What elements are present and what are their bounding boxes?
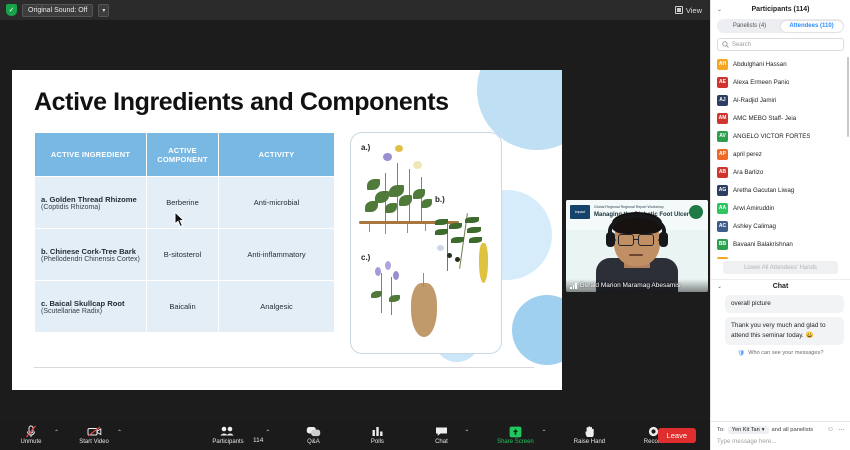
chevron-down-icon[interactable]: ⌄ (717, 283, 722, 290)
cell-ingredient: a. Golden Thread Rhizome (Coptidis Rhizo… (35, 177, 147, 229)
toolbar-button-share-screen[interactable]: Share Screen ⌃ (491, 425, 546, 445)
toolbar-button-qa[interactable]: Q&A (292, 425, 334, 445)
video-name-bar: Gerald Marion Maramag Abesamis (566, 279, 708, 292)
decorative-circle (512, 295, 562, 365)
cell-activity: Anti-inflammatory (219, 229, 335, 281)
chat-privacy-label: Who can see your messages? (748, 350, 823, 356)
participant-name: april perez (733, 151, 762, 158)
toolbar-label-raise-hand: Raise Hand (574, 439, 605, 445)
list-item[interactable]: AJ Al-Radjid Jamiri (711, 91, 850, 109)
participant-name: AMC MEBO Staff- Jeia (733, 115, 796, 122)
toolbar-label-participants: Participants (212, 439, 243, 445)
meeting-stage-area: ✓ Original Sound: Off ▾ View Active Ingr… (0, 0, 710, 450)
info-shield-icon: 🛡 (738, 350, 746, 357)
toolbar-label-qa: Q&A (307, 439, 320, 445)
avatar: AC (717, 221, 728, 232)
toolbar-label-start-video: Start Video (79, 439, 109, 445)
list-item[interactable]: AE Alexa Ermeen Panio (711, 73, 850, 91)
chevron-down-icon[interactable]: ▾ (98, 4, 109, 17)
participants-panel-title: Participants (114) (752, 6, 810, 13)
participants-tabs: Panelists (4) Attendees (110) (717, 19, 844, 33)
cell-ingredient: c. Baical Skullcap Root (Scutellariae Ra… (35, 281, 147, 333)
participant-name: Ashley Calimag (733, 223, 776, 230)
chat-panel-header: ⌄ Chat (711, 279, 850, 293)
list-item[interactable]: AG Aretha Gacutan Liwag (711, 181, 850, 199)
headphone-earcup-left (606, 232, 615, 247)
shared-screen-stage: Active Ingredients and Components ACTIVE… (0, 20, 710, 420)
table-row: b. Chinese Cork-Tree Bark (Phellodendri … (35, 229, 335, 281)
list-item[interactable]: BB Bavaani Balakrishnan (711, 235, 850, 253)
chevron-up-icon[interactable]: ⌃ (117, 429, 122, 445)
ingredient-scientific-name: (Phellodendri Chinensis Cortex) (41, 256, 140, 263)
recipient-scope-label: and all panelists (772, 427, 814, 433)
chat-message: Thank you very much and glad to attend t… (725, 317, 844, 345)
botanical-figure-panel: a.) b.) c.) (350, 132, 502, 354)
search-icon (722, 41, 729, 48)
figure-label-c: c.) (361, 253, 370, 262)
avatar: AA (717, 203, 728, 214)
cell-component: Baicalin (147, 281, 219, 333)
qa-bubbles-icon (306, 425, 321, 438)
ingredient-name: b. Chinese Cork-Tree Bark (41, 247, 140, 256)
list-item[interactable]: AH Abdulghani Hassan (711, 55, 850, 73)
list-item[interactable]: AB Ara Barlizo (711, 163, 850, 181)
avatar: AH (717, 59, 728, 70)
participant-name: Ara Barlizo (733, 169, 763, 176)
participant-name: Alexa Ermeen Panio (733, 79, 789, 86)
participants-count: 114 (253, 437, 263, 445)
toolbar-label-share-screen: Share Screen (497, 439, 534, 445)
avatar: AJ (717, 95, 728, 106)
figure-label-b: b.) (435, 195, 445, 204)
to-label: To: (717, 427, 725, 433)
participant-name: Aretha Gacutan Liwag (733, 187, 794, 194)
top-bar: ✓ Original Sound: Off ▾ View (0, 0, 710, 20)
speaker-mouth (629, 254, 643, 256)
chevron-up-icon[interactable]: ⌃ (541, 429, 546, 445)
avatar: BB (717, 239, 728, 250)
column-header-active-ingredient: ACTIVE INGREDIENT (35, 133, 147, 177)
active-ingredients-table: ACTIVE INGREDIENT ACTIVE COMPONENT ACTIV… (34, 132, 335, 333)
emoji-icon[interactable]: ☺ (827, 426, 834, 434)
participant-name: ANGELO VICTOR FORTES (733, 133, 810, 140)
partner-logo (689, 205, 703, 219)
chat-panel-title: Chat (773, 283, 789, 290)
recipient-name: Yen Kit Tan (732, 427, 760, 433)
search-placeholder: Search (732, 42, 751, 48)
toolbar-button-unmute[interactable]: Unmute ⌃ (10, 425, 59, 445)
cell-activity: Analgesic (219, 281, 335, 333)
toolbar-button-polls[interactable]: Polls (356, 425, 398, 445)
tab-panelists[interactable]: Panelists (4) (719, 21, 781, 32)
avatar: AP (717, 149, 728, 160)
participant-name: Candy Chen (733, 259, 767, 260)
share-screen-icon (509, 425, 522, 438)
chat-privacy-note[interactable]: 🛡 Who can see your messages? (711, 350, 850, 357)
signal-strength-icon (570, 282, 577, 289)
toolbar-button-chat[interactable]: Chat ⌃ (420, 425, 469, 445)
toolbar-button-raise-hand[interactable]: Raise Hand (568, 425, 610, 445)
impact-logo: impact (570, 205, 590, 219)
table-header-row: ACTIVE INGREDIENT ACTIVE COMPONENT ACTIV… (35, 133, 335, 177)
figure-label-a: a.) (361, 143, 370, 152)
cell-ingredient: b. Chinese Cork-Tree Bark (Phellodendri … (35, 229, 147, 281)
lower-all-hands-button[interactable]: Lower All Attendees' Hands (723, 261, 838, 274)
chat-recipient-row: To: Yen Kit Tan ▾ and all panelists ☺ ⋯ (717, 426, 845, 434)
raise-hand-icon (584, 425, 595, 438)
tab-attendees[interactable]: Attendees (110) (781, 21, 843, 32)
camera-off-icon (87, 425, 102, 438)
speaker-name-label: Gerald Marion Maramag Abesamis (580, 282, 680, 289)
chevron-down-icon[interactable]: ⌄ (717, 6, 722, 13)
chevron-down-icon: ▾ (762, 427, 765, 433)
toolbar-label-unmute: Unmute (20, 439, 41, 445)
list-item[interactable]: AM AMC MEBO Staff- Jeia (711, 109, 850, 127)
chat-messages: overall picture Thank you very much and … (711, 293, 850, 345)
participant-name: Bavaani Balakrishnan (733, 241, 793, 248)
banner-line-1: Global Regional Regional Report Workshop (594, 205, 664, 209)
cell-activity: Anti-microbial (219, 177, 335, 229)
right-side-panel: ⌄ Participants (114) Panelists (4) Atten… (710, 0, 850, 450)
participants-search-input[interactable]: Search (717, 38, 844, 51)
table-row: c. Baical Skullcap Root (Scutellariae Ra… (35, 281, 335, 333)
recipient-select[interactable]: Yen Kit Tan ▾ (728, 426, 769, 434)
list-item[interactable]: AA Arwi Amiruddin (711, 199, 850, 217)
meeting-controls-toolbar: Unmute ⌃ Start Video (0, 420, 710, 450)
toolbar-button-start-video[interactable]: Start Video ⌃ (73, 425, 122, 445)
view-button[interactable]: View (675, 3, 702, 17)
avatar: CC (717, 257, 728, 260)
avatar: AV (717, 131, 728, 142)
participants-icon (219, 425, 237, 438)
toolbar-label-chat: Chat (435, 439, 448, 445)
headphones-icon (608, 214, 666, 248)
list-item[interactable]: AV ANGELO VICTOR FORTES (711, 127, 850, 145)
more-options-icon[interactable]: ⋯ (838, 426, 845, 434)
avatar: AM (717, 113, 728, 124)
slide-title: Active Ingredients and Components (34, 88, 449, 117)
slide-divider (34, 367, 534, 368)
polls-bar-icon (371, 425, 384, 438)
ingredient-name: c. Baical Skullcap Root (41, 299, 140, 308)
chevron-up-icon[interactable]: ⌃ (54, 429, 59, 445)
avatar: AB (717, 167, 728, 178)
chevron-up-icon[interactable]: ⌃ (265, 429, 270, 445)
column-header-activity: ACTIVITY (219, 133, 335, 177)
participants-scrollbar[interactable] (847, 57, 850, 137)
ingredient-name: a. Golden Thread Rhizome (41, 195, 140, 204)
headphone-earcup-right (659, 232, 668, 247)
ingredient-scientific-name: (Scutellariae Radix) (41, 308, 140, 315)
original-sound-button[interactable]: Original Sound: Off (22, 4, 93, 17)
cell-component: B-sitosterol (147, 229, 219, 281)
list-item[interactable]: CC Candy Chen (711, 253, 850, 259)
presentation-slide: Active Ingredients and Components ACTIVE… (12, 70, 562, 390)
leave-button[interactable]: Leave (658, 428, 696, 443)
toolbar-button-participants[interactable]: Participants 114 ⌃ (205, 425, 270, 445)
eyeglasses-right-lens (638, 234, 654, 246)
participants-list[interactable]: AH Abdulghani Hassan AE Alexa Ermeen Pan… (711, 55, 850, 259)
chat-message-input[interactable]: Type message here... (717, 438, 845, 445)
list-item[interactable]: AC Ashley Calimag (711, 217, 850, 235)
eyeglasses-left-lens (618, 234, 634, 246)
microphone-muted-icon (25, 425, 37, 438)
speaker-video-tile[interactable]: impact Global Regional Regional Report W… (566, 200, 708, 292)
participant-name: Al-Radjid Jamiri (733, 97, 776, 104)
avatar: AG (717, 185, 728, 196)
chat-bubble-icon (435, 425, 448, 438)
view-button-label: View (686, 6, 702, 15)
participant-name: Arwi Amiruddin (733, 205, 774, 212)
chat-message: overall picture (725, 295, 844, 313)
ingredient-scientific-name: (Coptidis Rhizoma) (41, 204, 140, 211)
zoom-webinar-window: ✓ Original Sound: Off ▾ View Active Ingr… (0, 0, 850, 450)
column-header-active-component: ACTIVE COMPONENT (147, 133, 219, 177)
view-layout-icon (675, 6, 683, 14)
list-item[interactable]: AP april perez (711, 145, 850, 163)
participants-panel-header: ⌄ Participants (114) (711, 0, 850, 18)
chat-composer: To: Yen Kit Tan ▾ and all panelists ☺ ⋯ … (711, 421, 850, 450)
toolbar-label-polls: Polls (371, 439, 384, 445)
avatar: AE (717, 77, 728, 88)
chevron-up-icon[interactable]: ⌃ (464, 429, 469, 445)
eyeglasses-bridge (634, 239, 638, 240)
security-shield-icon: ✓ (6, 4, 17, 16)
participant-name: Abdulghani Hassan (733, 61, 787, 68)
